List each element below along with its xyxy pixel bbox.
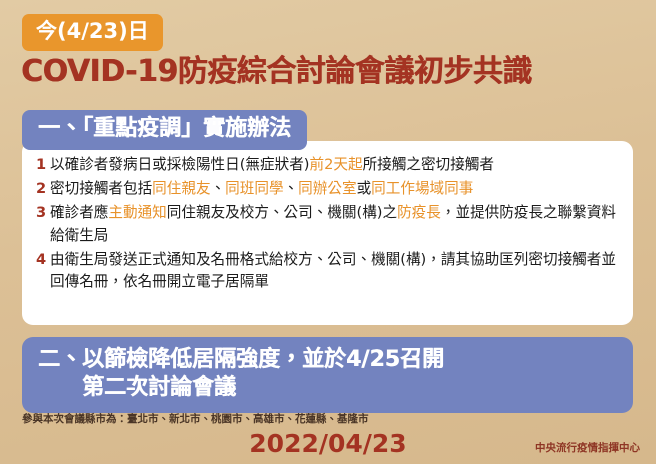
highlighted-text: 同工作場域同事 [371, 180, 473, 197]
highlighted-text: 前2天起 [309, 156, 362, 173]
list-item: 2密切接觸者包括同住親友、同班同學、同辦公室或同工作場域同事 [36, 178, 619, 200]
list-item: 4由衛生局發送正式通知及名冊格式給校方、公司、機關(構)，請其協助匡列密切接觸者… [36, 249, 619, 293]
section-one-header: 一、「重點疫調」實施辦法 [22, 110, 307, 150]
poster-root: 今(4/23)日 COVID-19防疫綜合討論會議初步共識 一、「重點疫調」實施… [0, 0, 656, 464]
highlighted-text: 主動通知 [108, 204, 166, 221]
plain-text: 密切接觸者包括 [50, 180, 152, 197]
list-item-number: 4 [36, 249, 50, 271]
plain-text: 、 [284, 180, 299, 197]
plain-text: 以確診者發病日或採檢陽性日(無症狀者) [50, 156, 309, 173]
numbered-list: 1以確診者發病日或採檢陽性日(無症狀者)前2天起所接觸之密切接觸者2密切接觸者包… [36, 154, 619, 293]
section-two-box: 二、以篩檢降低居隔強度，並於4/25召開 第二次討論會議 [22, 337, 633, 413]
plain-text: 、 [211, 180, 226, 197]
section-one-card: 1以確診者發病日或採檢陽性日(無症狀者)前2天起所接觸之密切接觸者2密切接觸者包… [22, 141, 633, 325]
section-two-line-2: 第二次討論會議 [38, 374, 617, 402]
plain-text: 同住親友及校方、公司、機關(構)之 [167, 204, 397, 221]
date-badge: 今(4/23)日 [22, 14, 163, 51]
list-item: 1以確診者發病日或採檢陽性日(無症狀者)前2天起所接觸之密切接觸者 [36, 154, 619, 176]
plain-text: 或 [357, 180, 372, 197]
highlighted-text: 防疫長 [397, 204, 441, 221]
list-item-number: 1 [36, 154, 50, 176]
highlighted-text: 同班同學 [225, 180, 283, 197]
list-item-number: 2 [36, 178, 50, 200]
highlighted-text: 同住親友 [152, 180, 210, 197]
list-item-number: 3 [36, 202, 50, 224]
page-title: COVID-19防疫綜合討論會議初步共識 [21, 55, 532, 89]
list-item-text: 由衛生局發送正式通知及名冊格式給校方、公司、機關(構)，請其協助匡列密切接觸者並… [50, 249, 619, 293]
footer-organization: 中央流行疫情指揮中心 [535, 440, 640, 455]
section-two-line-1: 二、以篩檢降低居隔強度，並於4/25召開 [38, 346, 617, 374]
list-item: 3確診者應主動通知同住親友及校方、公司、機關(構)之防疫長，並提供防疫長之聯繫資… [36, 202, 619, 246]
plain-text: 確診者應 [50, 204, 108, 221]
footer-participating-counties: 參與本次會議縣市為：臺北市、新北市、桃園市、高雄市、花蓮縣、基隆市 [22, 411, 369, 426]
highlighted-text: 同辦公室 [298, 180, 356, 197]
list-item-text: 以確診者發病日或採檢陽性日(無症狀者)前2天起所接觸之密切接觸者 [50, 154, 619, 176]
list-item-text: 密切接觸者包括同住親友、同班同學、同辦公室或同工作場域同事 [50, 178, 619, 200]
plain-text: 所接觸之密切接觸者 [363, 156, 494, 173]
plain-text: 由衛生局發送正式通知及名冊格式給校方、公司、機關(構)，請其協助匡列密切接觸者並… [50, 251, 616, 290]
list-item-text: 確診者應主動通知同住親友及校方、公司、機關(構)之防疫長，並提供防疫長之聯繫資料… [50, 202, 619, 246]
